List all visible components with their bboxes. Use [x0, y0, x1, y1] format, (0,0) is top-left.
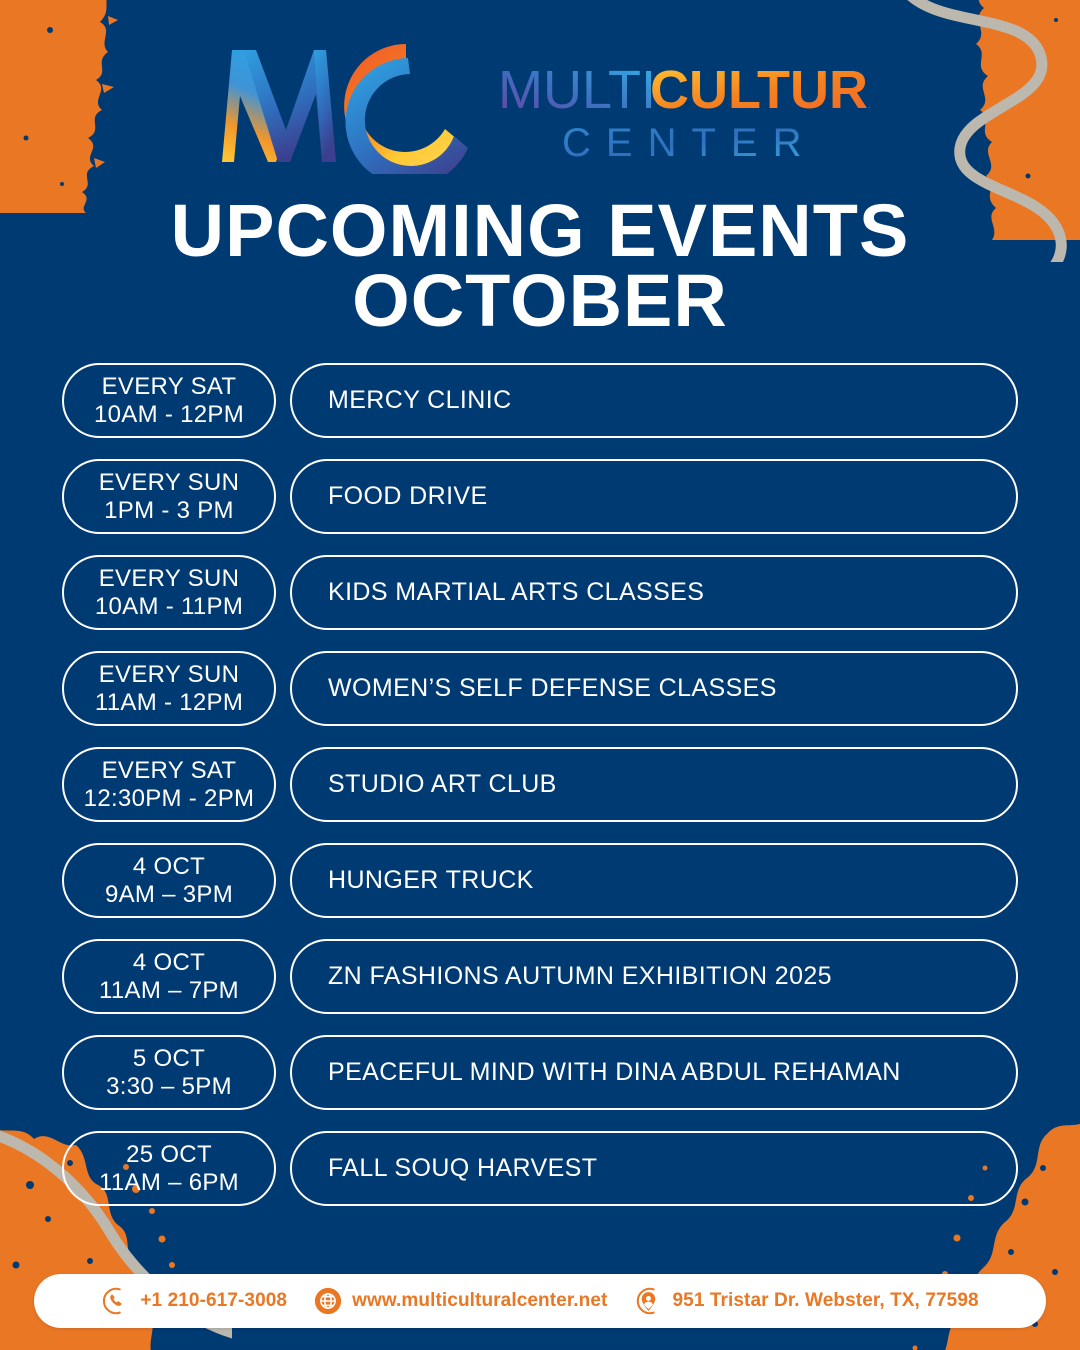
event-row: 25 OCT11AM – 6PMFALL SOUQ HARVEST	[62, 1131, 1018, 1206]
event-date: EVERY SAT	[102, 373, 237, 401]
event-time: 11AM – 6PM	[99, 1169, 239, 1197]
event-title-pill[interactable]: PEACEFUL MIND WITH DINA ABDUL REHAMAN	[290, 1035, 1018, 1110]
event-row: EVERY SAT12:30PM - 2PMSTUDIO ART CLUB	[62, 747, 1018, 822]
event-row: EVERY SUN1PM - 3 PMFOOD DRIVE	[62, 459, 1018, 534]
event-title: HUNGER TRUCK	[328, 866, 534, 895]
contact-website[interactable]: www.multiculturalcenter.net	[313, 1286, 607, 1316]
event-title-pill[interactable]: FALL SOUQ HARVEST	[290, 1131, 1018, 1206]
phone-icon	[101, 1286, 131, 1316]
svg-text:MULTI: MULTI	[498, 60, 656, 120]
event-date-pill[interactable]: EVERY SUN11AM - 12PM	[62, 651, 276, 726]
event-title: KIDS MARTIAL ARTS CLASSES	[328, 578, 704, 607]
event-title-pill[interactable]: MERCY CLINIC	[290, 363, 1018, 438]
event-row: 4 OCT9AM – 3PMHUNGER TRUCK	[62, 843, 1018, 918]
poster-canvas: MULTI CULTURAL CENTER UPCOMING EVENTS OC…	[0, 0, 1080, 1350]
location-pin-icon	[633, 1286, 663, 1316]
event-title-pill[interactable]: ZN FASHIONS AUTUMN EXHIBITION 2025	[290, 939, 1018, 1014]
event-title: ZN FASHIONS AUTUMN EXHIBITION 2025	[328, 962, 832, 991]
svg-text:CULTURAL: CULTURAL	[650, 60, 870, 120]
event-date-pill[interactable]: EVERY SUN1PM - 3 PM	[62, 459, 276, 534]
event-time: 3:30 – 5PM	[106, 1073, 232, 1101]
event-row: 5 OCT3:30 – 5PMPEACEFUL MIND WITH DINA A…	[62, 1035, 1018, 1110]
event-title: WOMEN’S SELF DEFENSE CLASSES	[328, 674, 777, 703]
event-time: 10AM - 11PM	[95, 593, 243, 621]
event-date: EVERY SUN	[99, 469, 240, 497]
events-list: EVERY SAT10AM - 12PMMERCY CLINICEVERY SU…	[62, 363, 1018, 1206]
event-title-pill[interactable]: KIDS MARTIAL ARTS CLASSES	[290, 555, 1018, 630]
contact-footer-bar: +1 210-617-3008 www.multiculturalcenter.…	[34, 1274, 1046, 1328]
event-title: FALL SOUQ HARVEST	[328, 1154, 597, 1183]
event-row: 4 OCT11AM – 7PMZN FASHIONS AUTUMN EXHIBI…	[62, 939, 1018, 1014]
website-url: www.multiculturalcenter.net	[352, 1290, 607, 1312]
event-time: 11AM - 12PM	[95, 689, 243, 717]
event-date-pill[interactable]: EVERY SAT10AM - 12PM	[62, 363, 276, 438]
event-date: EVERY SUN	[99, 565, 240, 593]
event-time: 10AM - 12PM	[94, 401, 244, 429]
event-date-pill[interactable]: EVERY SAT12:30PM - 2PM	[62, 747, 276, 822]
phone-number: +1 210-617-3008	[140, 1290, 287, 1312]
event-date: EVERY SAT	[102, 757, 237, 785]
event-row: EVERY SUN11AM - 12PMWOMEN’S SELF DEFENSE…	[62, 651, 1018, 726]
event-date: 4 OCT	[133, 949, 205, 977]
event-date-pill[interactable]: EVERY SUN10AM - 11PM	[62, 555, 276, 630]
contact-phone[interactable]: +1 210-617-3008	[101, 1286, 287, 1316]
event-time: 12:30PM - 2PM	[84, 785, 255, 813]
mc-monogram-icon: MULTI CULTURAL CENTER	[210, 34, 870, 174]
event-title-pill[interactable]: WOMEN’S SELF DEFENSE CLASSES	[290, 651, 1018, 726]
event-title-pill[interactable]: FOOD DRIVE	[290, 459, 1018, 534]
event-row: EVERY SAT10AM - 12PMMERCY CLINIC	[62, 363, 1018, 438]
event-date: 4 OCT	[133, 853, 205, 881]
svg-text:CENTER: CENTER	[562, 121, 816, 165]
event-date-pill[interactable]: 4 OCT11AM – 7PM	[62, 939, 276, 1014]
event-title: FOOD DRIVE	[328, 482, 488, 511]
event-date-pill[interactable]: 5 OCT3:30 – 5PM	[62, 1035, 276, 1110]
page-title-line2: OCTOBER	[0, 266, 1080, 336]
event-title: STUDIO ART CLUB	[328, 770, 557, 799]
event-time: 11AM – 7PM	[99, 977, 239, 1005]
event-title-pill[interactable]: HUNGER TRUCK	[290, 843, 1018, 918]
event-title: PEACEFUL MIND WITH DINA ABDUL REHAMAN	[328, 1058, 901, 1087]
event-time: 9AM – 3PM	[105, 881, 233, 909]
street-address: 951 Tristar Dr. Webster, TX, 77598	[672, 1290, 978, 1312]
event-date: 25 OCT	[126, 1141, 212, 1169]
event-date-pill[interactable]: 25 OCT11AM – 6PM	[62, 1131, 276, 1206]
brand-logo: MULTI CULTURAL CENTER	[0, 34, 1080, 174]
event-row: EVERY SUN10AM - 11PMKIDS MARTIAL ARTS CL…	[62, 555, 1018, 630]
event-date: 5 OCT	[133, 1045, 205, 1073]
event-time: 1PM - 3 PM	[104, 497, 234, 525]
contact-address[interactable]: 951 Tristar Dr. Webster, TX, 77598	[633, 1286, 978, 1316]
event-title: MERCY CLINIC	[328, 386, 512, 415]
event-date-pill[interactable]: 4 OCT9AM – 3PM	[62, 843, 276, 918]
globe-icon	[313, 1286, 343, 1316]
event-title-pill[interactable]: STUDIO ART CLUB	[290, 747, 1018, 822]
page-title: UPCOMING EVENTS OCTOBER	[0, 196, 1080, 337]
event-date: EVERY SUN	[99, 661, 240, 689]
